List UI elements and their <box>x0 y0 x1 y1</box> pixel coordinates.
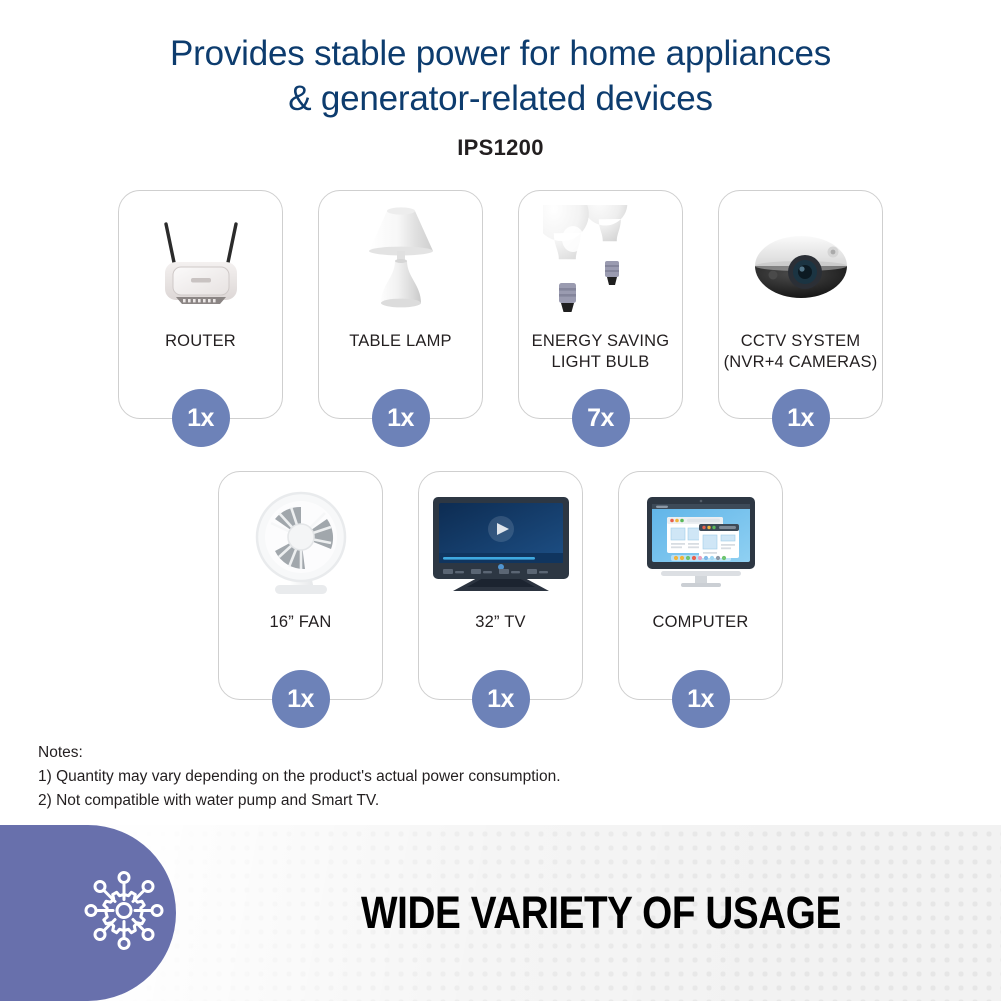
banner-title: WIDE VARIETY OF USAGE <box>0 887 1001 939</box>
quantity-badge: 1x <box>172 389 230 447</box>
appliance-label-line-1: 32” TV <box>475 613 525 631</box>
page-title-line-1: Provides stable power for home appliance… <box>0 32 1001 77</box>
appliance-label-line-2: (NVR+4 CAMERAS) <box>724 353 878 371</box>
page-title-line-2: & generator-related devices <box>0 77 1001 122</box>
quantity-badge: 7x <box>572 389 630 447</box>
router-icon <box>119 191 282 331</box>
cctv-dome-camera-icon <box>719 191 882 331</box>
notes-block: Notes: 1) Quantity may vary depending on… <box>38 741 561 813</box>
appliance-row-1: ROUTER 1x <box>0 190 1001 419</box>
appliance-label-line-1: COMPUTER <box>652 613 748 631</box>
appliance-label: ROUTER <box>161 331 240 352</box>
appliance-label: 32” TV <box>471 612 529 633</box>
note-item-1: 1) Quantity may vary depending on the pr… <box>38 765 561 789</box>
appliance-card-cctv[interactable]: CCTV SYSTEM (NVR+4 CAMERAS) 1x <box>718 190 883 419</box>
appliance-label-line-1: TABLE LAMP <box>349 332 452 350</box>
appliance-label: ENERGY SAVING LIGHT BULB <box>528 331 674 373</box>
header: Provides stable power for home appliance… <box>0 0 1001 161</box>
product-model: IPS1200 <box>0 135 1001 161</box>
computer-monitor-icon <box>619 472 782 612</box>
appliance-card-router[interactable]: ROUTER 1x <box>118 190 283 419</box>
appliance-card-fan[interactable]: 16” FAN 1x <box>218 471 383 700</box>
appliance-label-line-1: CCTV SYSTEM <box>741 332 861 350</box>
appliance-label: 16” FAN <box>266 612 336 633</box>
appliance-label-line-2: LIGHT BULB <box>552 353 650 371</box>
quantity-badge: 1x <box>472 670 530 728</box>
appliance-label-line-1: ENERGY SAVING <box>532 332 670 350</box>
quantity-badge: 1x <box>272 670 330 728</box>
table-lamp-icon <box>319 191 482 331</box>
appliance-label-line-1: ROUTER <box>165 332 236 350</box>
appliance-card-computer[interactable]: COMPUTER 1x <box>618 471 783 700</box>
fan-icon <box>219 472 382 612</box>
appliance-card-light-bulb[interactable]: ENERGY SAVING LIGHT BULB 7x <box>518 190 683 419</box>
light-bulb-icon <box>519 191 682 331</box>
appliance-label: TABLE LAMP <box>345 331 456 352</box>
appliance-card-table-lamp[interactable]: TABLE LAMP 1x <box>318 190 483 419</box>
page-title: Provides stable power for home appliance… <box>0 32 1001 122</box>
quantity-badge: 1x <box>772 389 830 447</box>
banner-title-text: WIDE VARIETY OF USAGE <box>361 887 841 939</box>
notes-heading: Notes: <box>38 741 561 765</box>
bottom-banner: WIDE VARIETY OF USAGE <box>0 825 1001 1001</box>
appliance-card-tv[interactable]: 32” TV 1x <box>418 471 583 700</box>
quantity-badge: 1x <box>372 389 430 447</box>
appliance-grid: ROUTER 1x <box>0 190 1001 752</box>
appliance-row-2: 16” FAN 1x <box>0 471 1001 700</box>
quantity-badge: 1x <box>672 670 730 728</box>
infographic-page: Provides stable power for home appliance… <box>0 0 1001 1001</box>
note-item-2: 2) Not compatible with water pump and Sm… <box>38 789 561 813</box>
appliance-label-line-1: 16” FAN <box>270 613 332 631</box>
appliance-label: CCTV SYSTEM (NVR+4 CAMERAS) <box>720 331 882 373</box>
appliance-label: COMPUTER <box>648 612 752 633</box>
tv-icon <box>419 472 582 612</box>
